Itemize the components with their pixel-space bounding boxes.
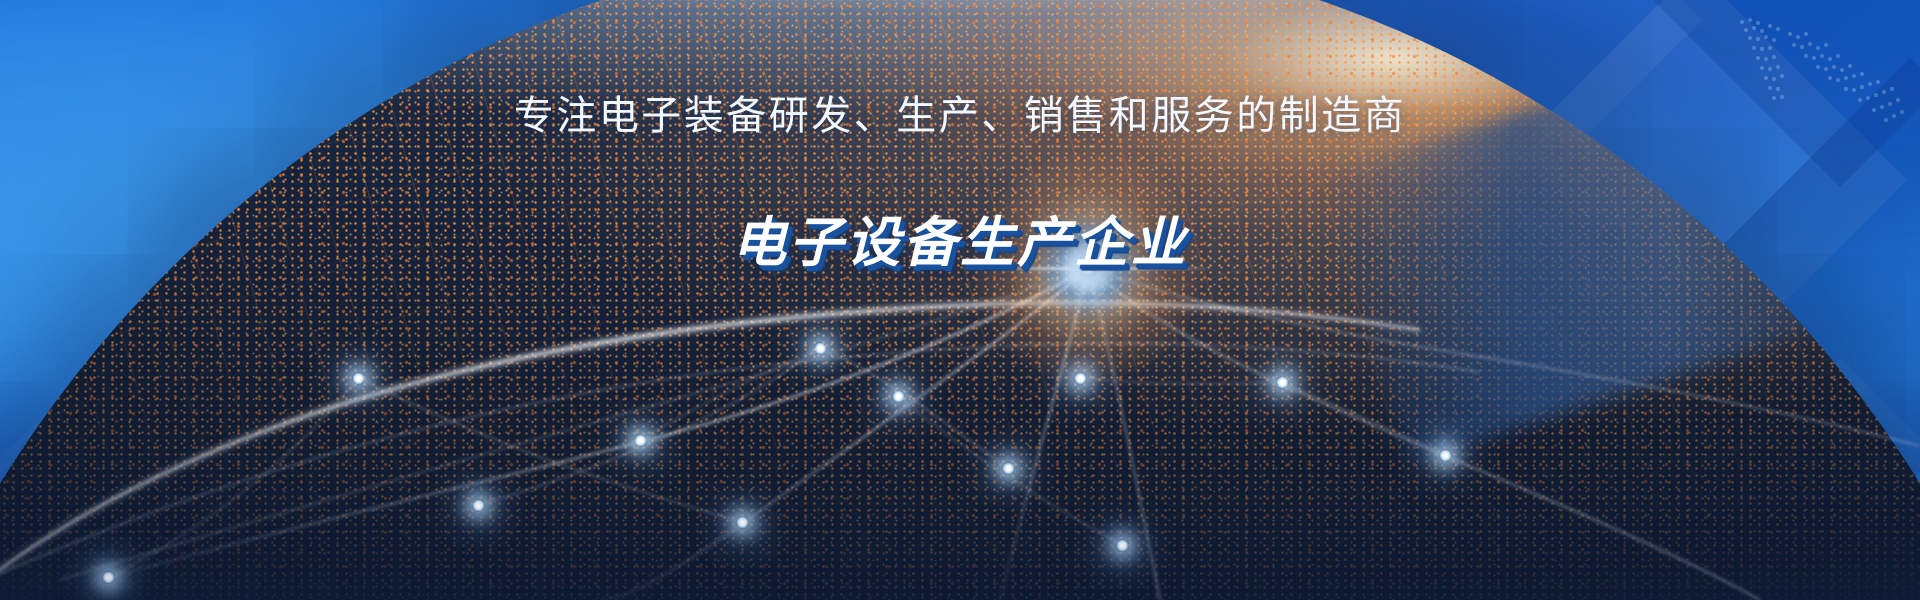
node-right-low-icon	[1116, 539, 1129, 552]
banner-headline-primary: 专注电子装备研发、生产、销售和服务的制造商	[0, 92, 1920, 140]
network-connection-lines	[0, 0, 1920, 600]
node-center-left-icon	[634, 434, 647, 447]
node-center-right-icon	[892, 390, 905, 403]
node-right-far-icon	[1276, 376, 1289, 389]
node-right-mid-icon	[1002, 462, 1015, 475]
banner-headline-secondary: 电子设备生产企业	[0, 198, 1920, 277]
node-left-mid-icon	[352, 372, 365, 385]
node-left-lower-icon	[472, 499, 485, 512]
hero-banner: 专注电子装备研发、生产、销售和服务的制造商 电子设备生产企业	[0, 0, 1920, 600]
network-overlay	[0, 0, 1920, 600]
node-right-edge-icon	[1439, 449, 1452, 462]
node-right-tower-icon	[1074, 372, 1087, 385]
node-center-high-icon	[814, 342, 827, 355]
node-center-icon	[736, 516, 749, 529]
node-far-left-low-icon	[102, 571, 115, 584]
banner-copy-block: 专注电子装备研发、生产、销售和服务的制造商 电子设备生产企业	[0, 92, 1920, 277]
